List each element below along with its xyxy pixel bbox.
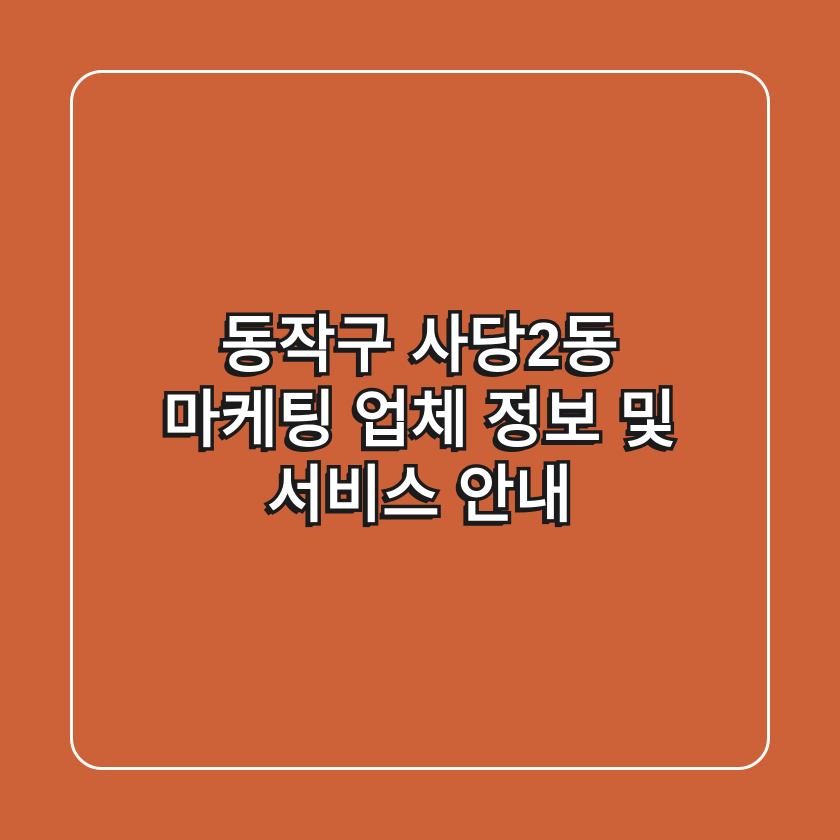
title-card: 동작구 사당2동 마케팅 업체 정보 및 서비스 안내 [0,0,840,840]
headline-block: 동작구 사당2동 마케팅 업체 정보 및 서비스 안내 [0,0,840,840]
headline-line-1: 동작구 사당2동 [221,308,619,383]
headline-line-3: 서비스 안내 [267,458,572,533]
headline-line-2: 마케팅 업체 정보 및 [163,383,677,458]
